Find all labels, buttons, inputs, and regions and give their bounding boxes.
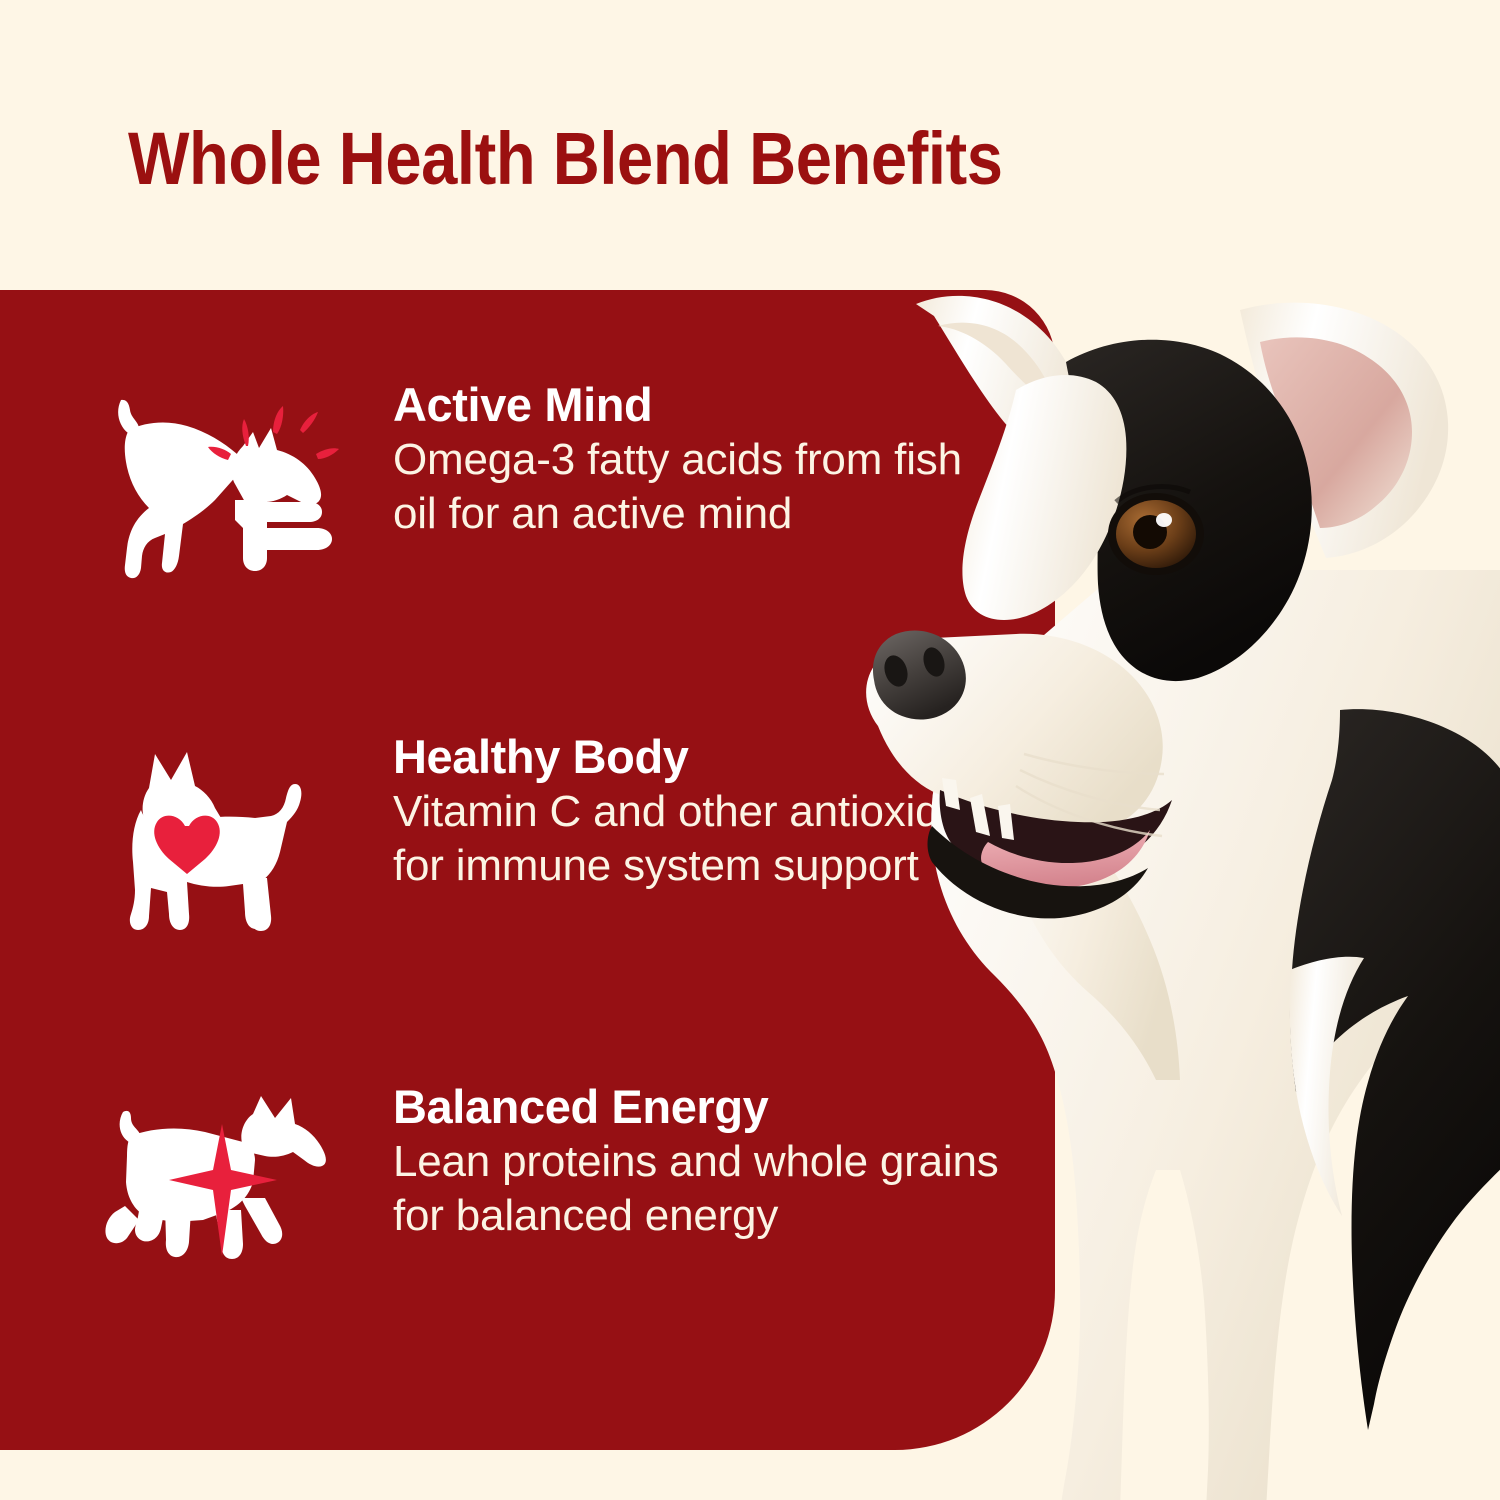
benefit-item-balanced-energy: Balanced Energy Lean proteins and whole … [95, 1080, 1013, 1275]
benefit-title: Healthy Body [393, 732, 1053, 782]
benefit-item-active-mind: Active Mind Omega-3 fatty acids from fis… [95, 378, 1013, 583]
page-title: Whole Health Blend Benefits [128, 122, 1228, 196]
product-benefits-infographic: Whole Health Blend Benefits [0, 0, 1500, 1500]
benefit-description: Vitamin C and other antioxidants for imm… [393, 785, 1053, 894]
dog-trotting-sparkle-icon [95, 1080, 345, 1275]
benefit-description: Lean proteins and whole grains for balan… [393, 1135, 1013, 1244]
benefit-title: Active Mind [393, 380, 1013, 430]
benefit-item-healthy-body: Healthy Body Vitamin C and other antioxi… [95, 730, 1053, 940]
benefit-text-active-mind: Active Mind Omega-3 fatty acids from fis… [345, 378, 1013, 542]
benefit-description: Omega-3 fatty acids from fish oil for an… [393, 433, 1013, 542]
benefit-title: Balanced Energy [393, 1082, 1013, 1132]
dog-standing-heart-icon [95, 730, 345, 940]
benefit-text-balanced-energy: Balanced Energy Lean proteins and whole … [345, 1080, 1013, 1244]
benefits-list: Active Mind Omega-3 fatty acids from fis… [0, 290, 1055, 1450]
dog-play-bow-sparks-icon [95, 378, 345, 583]
benefit-text-healthy-body: Healthy Body Vitamin C and other antioxi… [345, 730, 1053, 894]
